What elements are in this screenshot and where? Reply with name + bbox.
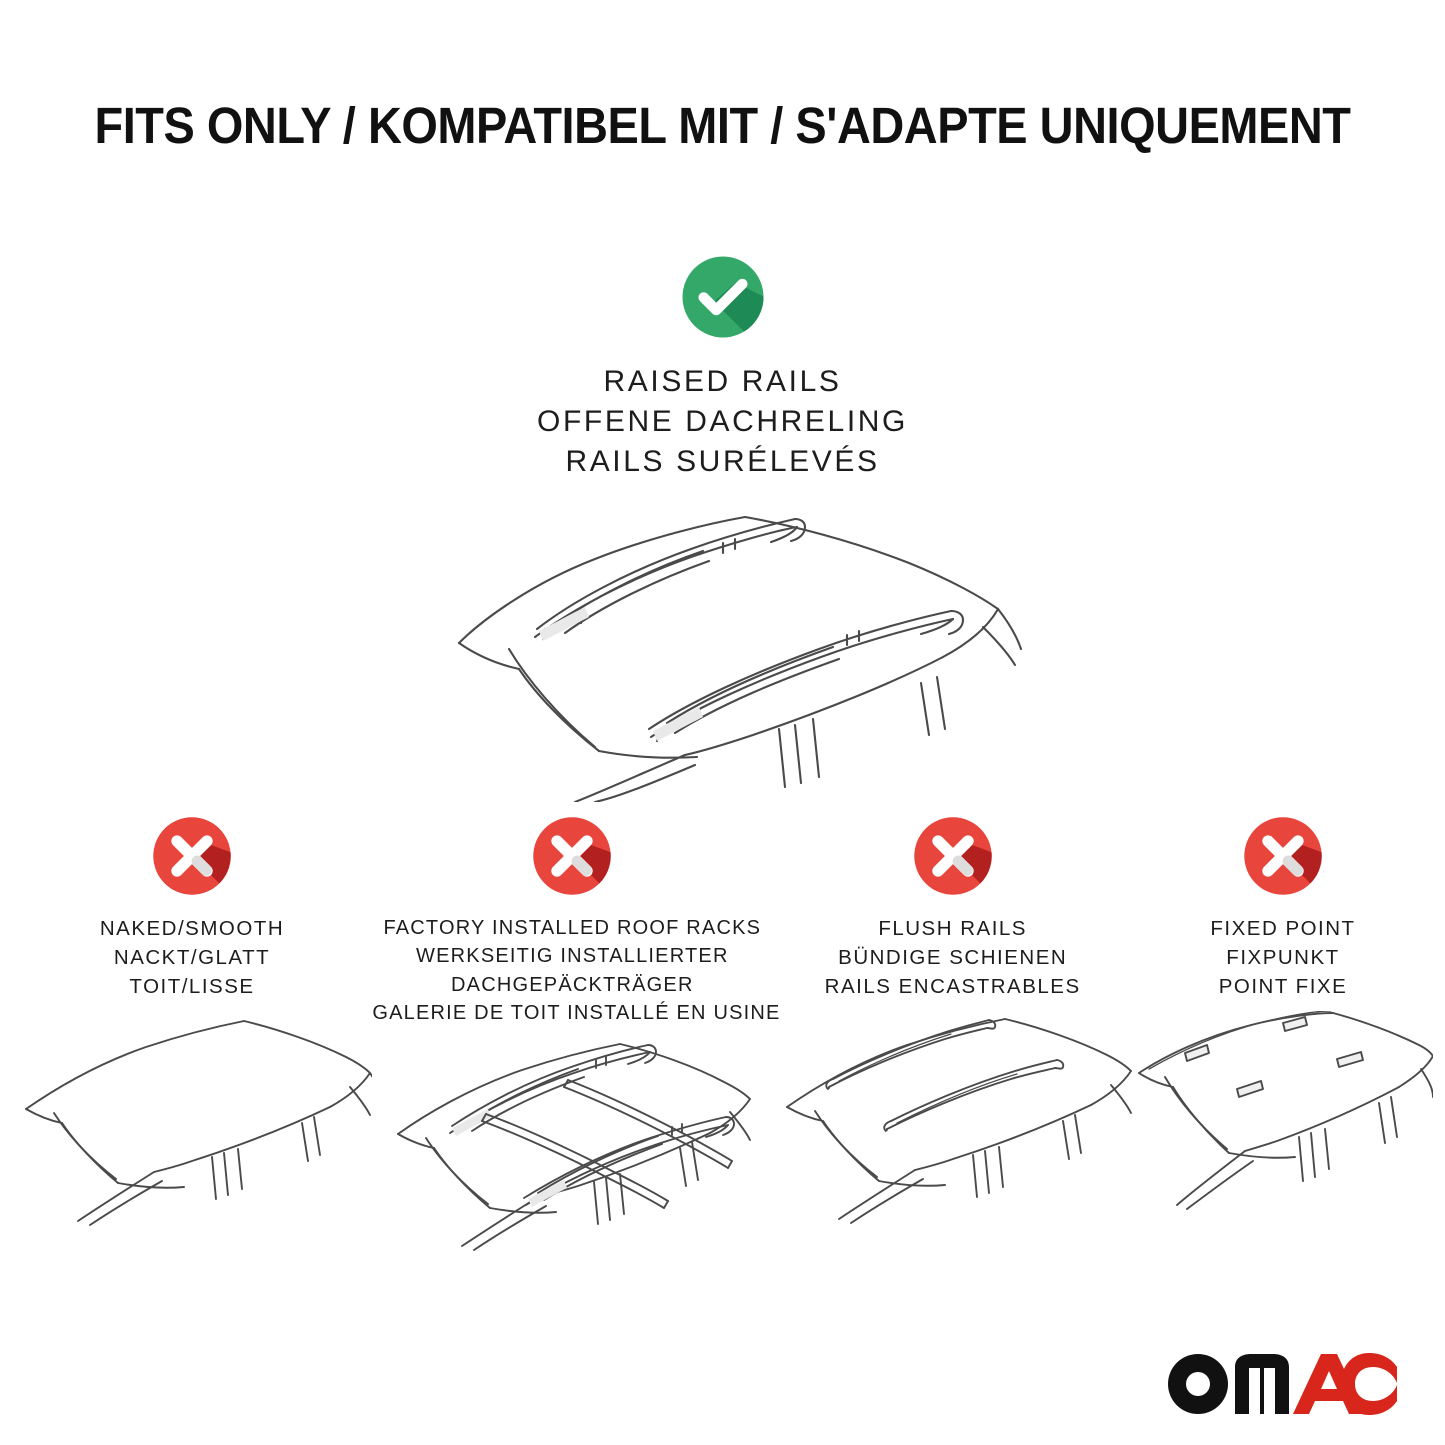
caption-line-fr: GALERIE DE TOIT INSTALLÉ EN USINE	[372, 999, 772, 1027]
incompatible-row: NAKED/SMOOTH NACKT/GLATT TOIT/LISSE	[0, 812, 1445, 1276]
check-circle-icon	[678, 252, 768, 342]
omac-logo	[1165, 1343, 1397, 1421]
caption-line-fr: TOIT/LISSE	[12, 972, 372, 1001]
incompatible-caption: FLUSH RAILS BÜNDIGE SCHIENEN RAILS ENCAS…	[773, 914, 1133, 1001]
x-circle-icon	[909, 812, 997, 900]
page-title: FITS ONLY / KOMPATIBEL MIT / S'ADAPTE UN…	[58, 96, 1387, 155]
car-roof-fixed-point-illustration	[1133, 1011, 1433, 1249]
caption-line-de: BÜNDIGE SCHIENEN	[773, 943, 1133, 972]
compatible-line-de: OFFENE DACHRELING	[0, 402, 1445, 442]
caption-line-en: NAKED/SMOOTH	[12, 914, 372, 943]
car-roof-raised-rails-illustration	[423, 497, 1023, 802]
compatible-block: RAISED RAILS OFFENE DACHRELING RAILS SUR…	[0, 252, 1445, 483]
caption-line-fr: RAILS ENCASTRABLES	[773, 972, 1133, 1001]
compatibility-infographic: FITS ONLY / KOMPATIBEL MIT / S'ADAPTE UN…	[0, 0, 1445, 1445]
x-circle-icon	[148, 812, 236, 900]
compatible-line-en: RAISED RAILS	[0, 362, 1445, 402]
caption-line-en: FIXED POINT	[1133, 914, 1433, 943]
caption-line-de: NACKT/GLATT	[12, 943, 372, 972]
compatible-caption: RAISED RAILS OFFENE DACHRELING RAILS SUR…	[0, 362, 1445, 483]
caption-line-de-2: DACHGEPÄCKTRÄGER	[372, 971, 772, 999]
incompatible-item-naked-smooth: NAKED/SMOOTH NACKT/GLATT TOIT/LISSE	[12, 812, 372, 1249]
caption-line-de: FIXPUNKT	[1133, 943, 1433, 972]
car-roof-factory-racks-illustration	[372, 1038, 772, 1276]
incompatible-caption: NAKED/SMOOTH NACKT/GLATT TOIT/LISSE	[12, 914, 372, 1001]
x-circle-icon	[528, 812, 616, 900]
car-roof-naked-smooth-illustration	[12, 1011, 372, 1249]
incompatible-caption: FIXED POINT FIXPUNKT POINT FIXE	[1133, 914, 1433, 1001]
caption-line-en: FLUSH RAILS	[773, 914, 1133, 943]
caption-line-en: FACTORY INSTALLED ROOF RACKS	[372, 914, 772, 942]
incompatible-caption: FACTORY INSTALLED ROOF RACKS WERKSEITIG …	[372, 914, 772, 1028]
x-circle-icon	[1239, 812, 1327, 900]
incompatible-item-factory-roof-racks: FACTORY INSTALLED ROOF RACKS WERKSEITIG …	[372, 812, 772, 1276]
incompatible-item-fixed-point: FIXED POINT FIXPUNKT POINT FIXE	[1133, 812, 1433, 1249]
car-roof-flush-rails-illustration	[773, 1011, 1133, 1249]
incompatible-item-flush-rails: FLUSH RAILS BÜNDIGE SCHIENEN RAILS ENCAS…	[773, 812, 1133, 1249]
caption-line-fr: POINT FIXE	[1133, 972, 1433, 1001]
caption-line-de-1: WERKSEITIG INSTALLIERTER	[372, 942, 772, 970]
compatible-line-fr: RAILS SURÉLEVÉS	[0, 442, 1445, 482]
